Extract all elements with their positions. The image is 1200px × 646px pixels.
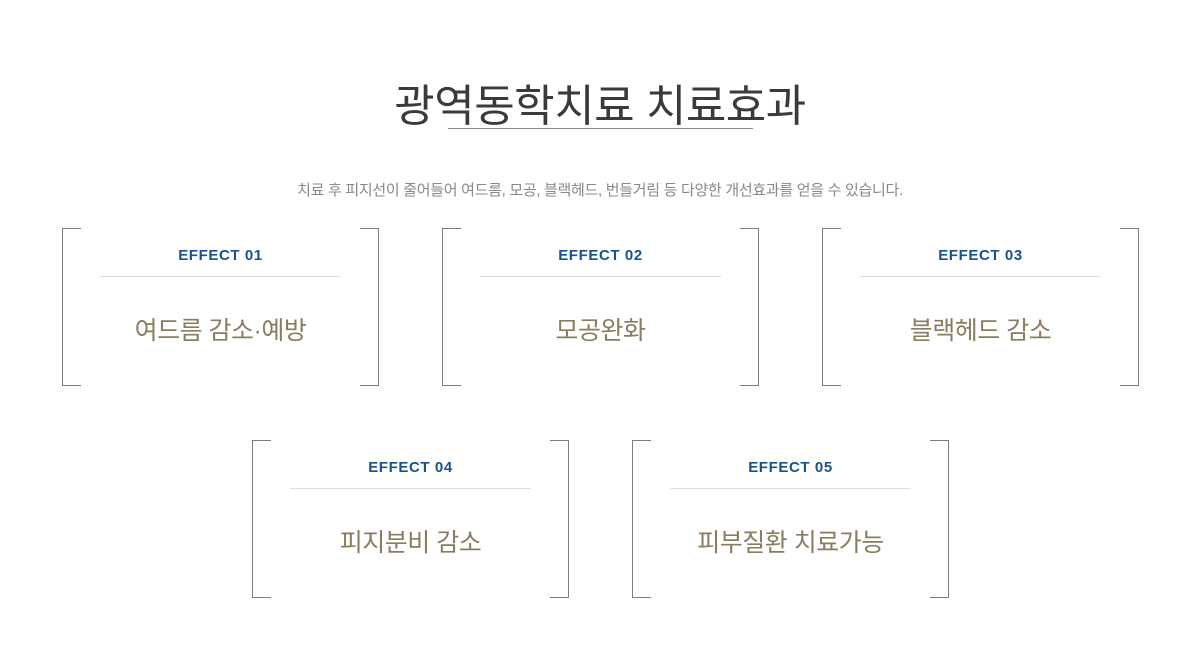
- page-title: 광역동학치료 치료효과: [0, 81, 1200, 134]
- effect-card-2: EFFECT 02 모공완화: [442, 228, 759, 386]
- effect-card-5: EFFECT 05 피부질환 치료가능: [632, 440, 949, 598]
- title-divider: [448, 128, 753, 129]
- effect-divider: [860, 276, 1101, 277]
- effect-card-3: EFFECT 03 블랙헤드 감소: [822, 228, 1139, 386]
- effect-divider: [670, 488, 911, 489]
- effect-text: 여드름 감소·예방: [62, 311, 379, 347]
- effect-card-1: EFFECT 01 여드름 감소·예방: [62, 228, 379, 386]
- effect-label: EFFECT 04: [252, 459, 569, 476]
- effect-divider: [290, 488, 531, 489]
- effect-label: EFFECT 05: [632, 459, 949, 476]
- effect-text: 모공완화: [442, 311, 759, 347]
- effect-label: EFFECT 01: [62, 247, 379, 264]
- effect-divider: [480, 276, 721, 277]
- effect-divider: [100, 276, 341, 277]
- effect-card-4: EFFECT 04 피지분비 감소: [252, 440, 569, 598]
- effect-text: 피지분비 감소: [252, 523, 569, 559]
- page-subtitle: 치료 후 피지선이 줄어들어 여드름, 모공, 블랙헤드, 번들거림 등 다양한…: [0, 180, 1200, 203]
- effect-text: 블랙헤드 감소: [822, 311, 1139, 347]
- effect-label: EFFECT 03: [822, 247, 1139, 264]
- effect-text: 피부질환 치료가능: [632, 523, 949, 559]
- effect-label: EFFECT 02: [442, 247, 759, 264]
